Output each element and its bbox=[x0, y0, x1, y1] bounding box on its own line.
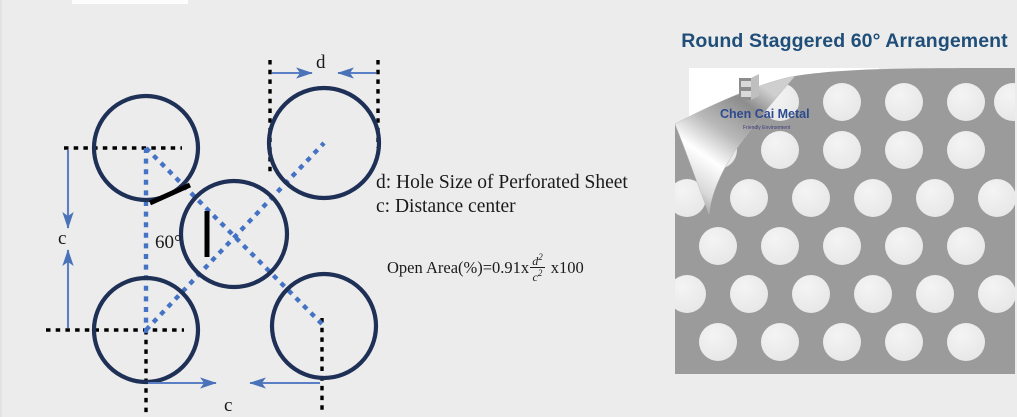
formula-numerator: d2 bbox=[530, 252, 545, 267]
formula-tail: x100 bbox=[551, 258, 584, 278]
dimension-label-c-vertical: c bbox=[58, 228, 66, 249]
hole-circle-center bbox=[181, 181, 287, 287]
extension-lines-black bbox=[46, 60, 378, 414]
panel-title: Round Staggered 60° Arrangement bbox=[670, 30, 1017, 53]
angle-tick-upper bbox=[150, 185, 190, 203]
perforation-geometry-diagram: 60° c c d bbox=[2, 0, 662, 417]
legend-hole-size: d: Hole Size of Perforated Sheet bbox=[376, 172, 628, 194]
dimension-label-c-horizontal: c bbox=[224, 395, 232, 416]
company-tagline: Friendly Environment bbox=[743, 125, 791, 131]
diagram-page: 60° c c d d: Hole Size of Perforated She… bbox=[0, 0, 1017, 417]
hole-circle-bottom-right bbox=[272, 274, 376, 378]
formula-denominator: c2 bbox=[531, 268, 545, 283]
open-area-formula: Open Area(%)=0.91x d2 c2 x100 bbox=[387, 252, 584, 283]
legend-distance-center: c: Distance center bbox=[376, 196, 516, 218]
company-name: Chen Cai Metal bbox=[720, 107, 810, 121]
product-image-panel: Round Staggered 60° Arrangement bbox=[662, 0, 1017, 417]
formula-fraction: d2 c2 bbox=[530, 252, 545, 283]
formula-lead: Open Area(%)=0.91x bbox=[387, 258, 529, 278]
dimension-label-d: d bbox=[316, 52, 326, 73]
perforated-sheet-image: Chen Cai Metal Friendly Environment bbox=[675, 68, 1015, 380]
angle-label-60: 60° bbox=[155, 232, 182, 253]
